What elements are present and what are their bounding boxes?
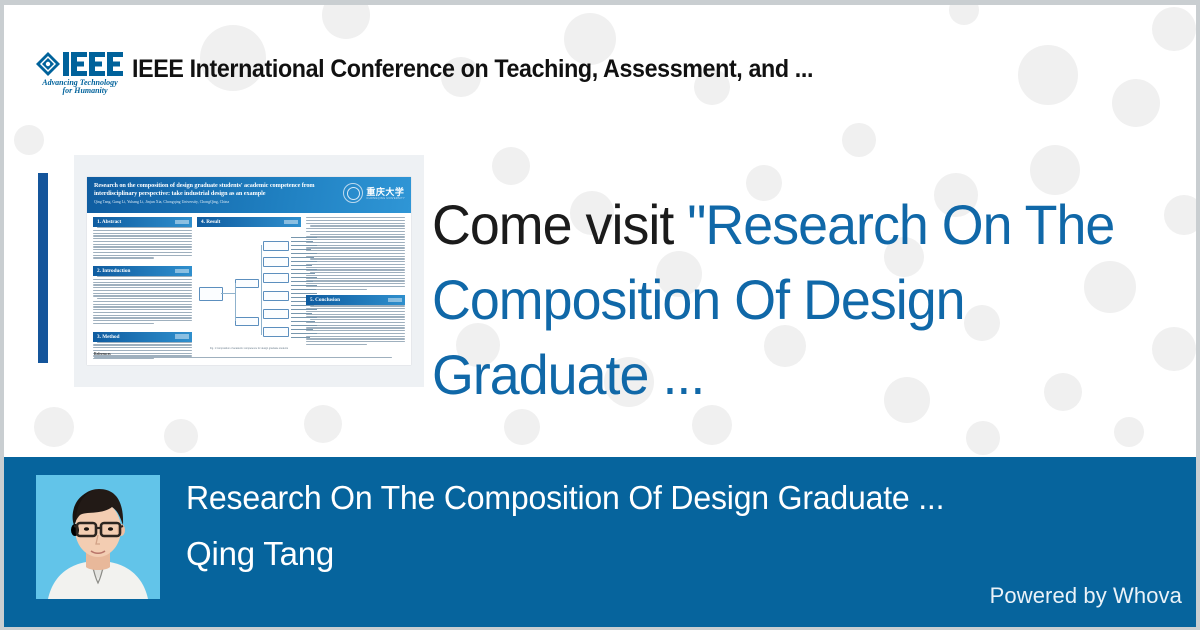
poster-thumbnail[interactable]: Research on the composition of design gr… [74, 155, 424, 387]
svg-text:for Humanity: for Humanity [62, 86, 108, 95]
poster-section-abstract: 1. Abstract [93, 217, 192, 260]
poster-section-text [93, 276, 192, 324]
poster-section-introduction: 2. Introduction [93, 266, 192, 326]
accent-bar [38, 173, 48, 363]
avatar [36, 475, 160, 599]
poster-section-heading: 2. Introduction [93, 266, 192, 276]
decor-dot [1114, 417, 1144, 447]
footer-presentation-title: Research On The Composition Of Design Gr… [186, 479, 944, 517]
poster-figure-mindmap: Fig. 1 Composition of academic competenc… [197, 233, 301, 350]
poster-section-method: 3. Method [93, 332, 192, 361]
headline-lead: Come visit [432, 193, 687, 256]
poster-figure-caption: Fig. 1 Composition of academic competenc… [197, 347, 301, 350]
decor-dot [1164, 195, 1196, 235]
conference-title: IEEE International Conference on Teachin… [132, 55, 813, 84]
poster-section-text [306, 217, 405, 291]
decor-dot [842, 123, 876, 157]
decor-dot [966, 421, 1000, 455]
poster-body: 1. Abstract 2. Introduction [87, 213, 411, 350]
decor-dot [304, 405, 342, 443]
decor-dot [492, 147, 530, 185]
poster-section-text [93, 342, 192, 360]
poster-image: Research on the composition of design gr… [87, 177, 411, 365]
share-card: Advancing Technology for Humanity IEEE I… [4, 5, 1196, 627]
poster-title: Research on the composition of design gr… [94, 182, 329, 197]
headline: Come visit "Research On The Composition … [432, 187, 1162, 412]
poster-section-heading: 3. Method [93, 332, 192, 342]
decor-dot [14, 125, 44, 155]
university-name-en: CHONGQING UNIVERSITY [366, 197, 405, 200]
decor-dot [34, 407, 74, 447]
header: Advancing Technology for Humanity IEEE I… [4, 5, 1196, 123]
powered-by-label: Powered by Whova [990, 583, 1182, 609]
poster-column-left: 1. Abstract 2. Introduction [93, 217, 192, 350]
university-seal-icon [343, 183, 363, 203]
poster-header: Research on the composition of design gr… [87, 177, 411, 213]
decor-dot [164, 419, 198, 453]
poster-authors: Qing Tang, Gang Li, Yuhang Li, Jinjun Xi… [94, 199, 334, 205]
university-name: 重庆大学 [366, 187, 405, 197]
poster-section-conclusion: 5. Conclusion [306, 295, 405, 346]
poster-section-heading: 1. Abstract [93, 217, 192, 227]
ieee-logo-icon: Advancing Technology for Humanity [32, 47, 128, 97]
poster-section-text [306, 305, 405, 345]
poster-section-text [93, 227, 192, 259]
poster-column-middle: 4. Result [197, 217, 301, 350]
decor-dot [504, 409, 540, 445]
footer-presenter-name: Qing Tang [186, 535, 334, 573]
poster-section-heading: 5. Conclusion [306, 295, 405, 305]
poster-column-right: 5. Conclusion [306, 217, 405, 350]
footer-bar: Research On The Composition Of Design Gr… [4, 457, 1196, 627]
poster-section-heading: 4. Result [197, 217, 301, 227]
university-logo-icon: 重庆大学 CHONGQING UNIVERSITY [343, 183, 405, 203]
